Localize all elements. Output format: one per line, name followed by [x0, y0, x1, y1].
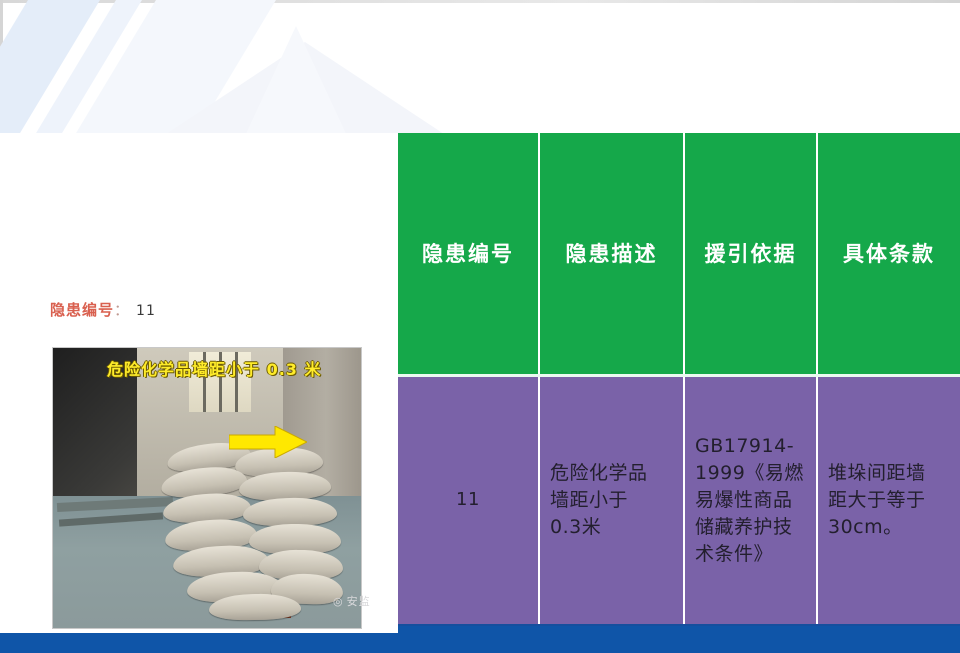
table-header-row: 隐患编号 隐患描述 援引依据 具体条款 [398, 133, 960, 374]
table-cell-citation-basis: GB17914- 1999《易燃 易爆性商品 储藏养护技 术条件》 [683, 377, 816, 624]
bottom-bar [0, 633, 960, 653]
hazard-id-line: 隐患编号：11 [50, 299, 156, 320]
slide-left-panel: 隐患编号：11 [0, 133, 398, 633]
top-rule [0, 0, 960, 3]
hazard-id-value: 11 [136, 303, 156, 319]
hazard-table: 隐患编号 隐患描述 援引依据 具体条款 11 危险化学品 墙距小于 0.3米 G… [398, 133, 960, 624]
hazard-id-colon: ： [114, 301, 130, 319]
table-cell-hazard-number: 11 [398, 377, 538, 624]
table-header-hazard-description: 隐患描述 [538, 133, 683, 374]
photo-sack-stack [161, 444, 341, 612]
photo-caption: 危险化学品墙距小于 0.3 米 [107, 356, 322, 380]
hazard-photo: 危险化学品墙距小于 0.3 米 [52, 347, 362, 629]
right-arrow-icon [229, 426, 307, 458]
deco-mountain-shape-2 [244, 26, 348, 133]
table-header-hazard-number: 隐患编号 [398, 133, 538, 374]
table-row: 11 危险化学品 墙距小于 0.3米 GB17914- 1999《易燃 易爆性商… [398, 374, 960, 624]
table-header-citation-basis: 援引依据 [683, 133, 816, 374]
watermark: ◎安监 [333, 593, 371, 609]
top-decorative-band [0, 0, 960, 133]
table-header-specific-clause: 具体条款 [816, 133, 960, 374]
table-cell-specific-clause: 堆垛间距墙 距大于等于 30cm。 [816, 377, 960, 624]
watermark-icon: ◎ [333, 595, 344, 608]
bottom-bar-seam [398, 624, 960, 626]
slide-page: 隐患编号：11 [0, 0, 960, 653]
hazard-id-label: 隐患编号 [50, 301, 114, 319]
watermark-text: 安监 [347, 595, 371, 608]
table-cell-hazard-description: 危险化学品 墙距小于 0.3米 [538, 377, 683, 624]
